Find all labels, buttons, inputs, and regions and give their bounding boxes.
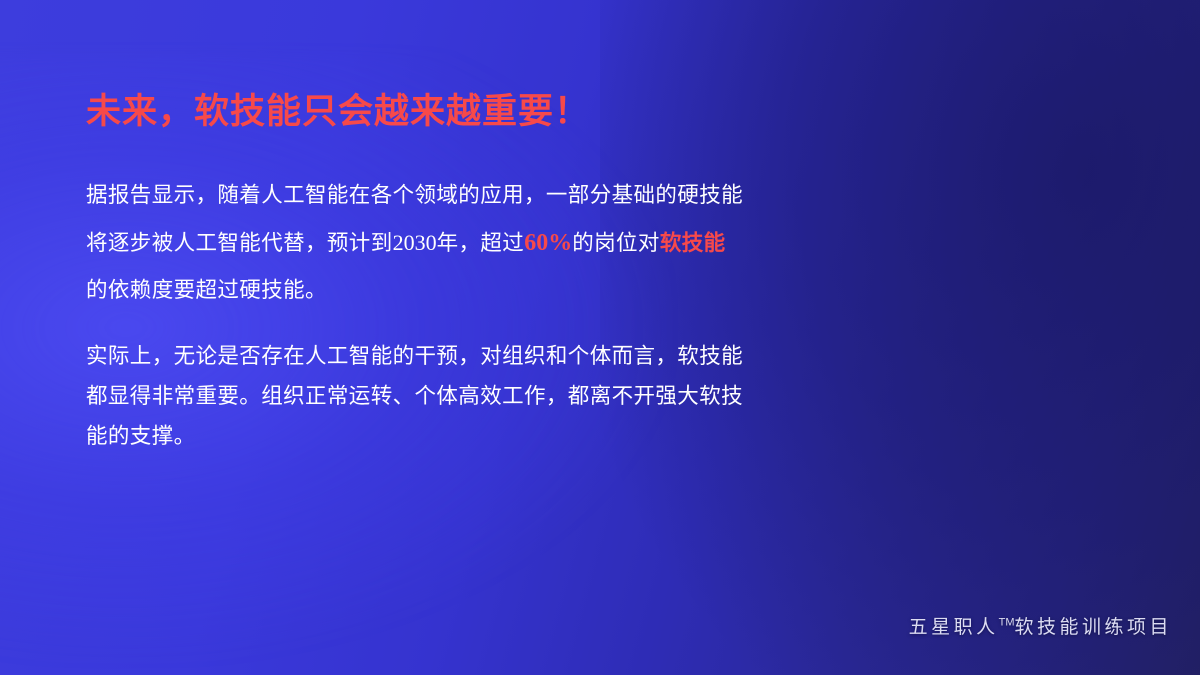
soft-skills-highlight: 软技能 [660, 231, 726, 255]
paragraph-one: 据报告显示，随着人工智能在各个领域的应用，一部分基础的硬技能将逐步被人工智能代替… [86, 172, 746, 314]
slide-canvas: 未来，软技能只会越来越重要！ 据报告显示，随着人工智能在各个领域的应用，一部分基… [0, 0, 1200, 675]
paragraph-two: 实际上，无论是否存在人工智能的干预，对组织和个体而言，软技能都显得非常重要。组织… [86, 336, 746, 456]
slide-content: 未来，软技能只会越来越重要！ 据报告显示，随着人工智能在各个领域的应用，一部分基… [86, 92, 746, 456]
paragraph-one-text-c: 的岗位对 [572, 231, 660, 255]
paragraph-one-text-b: 年，超过 [437, 231, 525, 255]
footer-watermark: 五星职人TM软技能训练项目 [909, 612, 1172, 639]
program-name: 软技能训练项目 [1014, 617, 1172, 638]
paragraph-one-text-d: 的依赖度要超过硬技能。 [86, 278, 327, 302]
brand-name: 五星职人 [909, 617, 999, 638]
percent-highlight: 60% [524, 230, 572, 256]
year-value: 2030 [393, 230, 437, 255]
trademark-symbol: TM [999, 617, 1015, 629]
page-title: 未来，软技能只会越来越重要！ [86, 92, 746, 132]
